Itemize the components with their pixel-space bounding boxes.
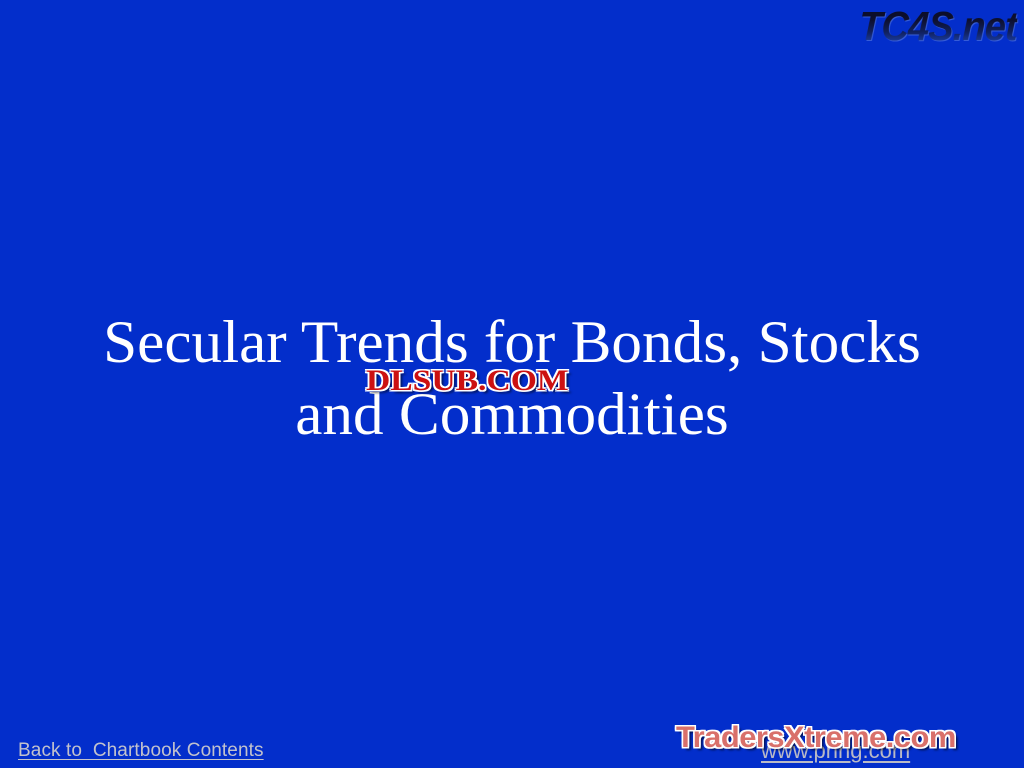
presentation-slide: TC4S.net Secular Trends for Bonds, Stock…	[0, 0, 1024, 768]
back-to-chartbook-contents-link[interactable]: Back to Chartbook Contents	[18, 740, 264, 762]
dlsub-watermark: DLSUB.COM	[366, 364, 569, 398]
tradersxtreme-logo: TradersXtreme.com	[676, 720, 956, 756]
tc4s-net-logo: TC4S.net	[859, 2, 1018, 50]
